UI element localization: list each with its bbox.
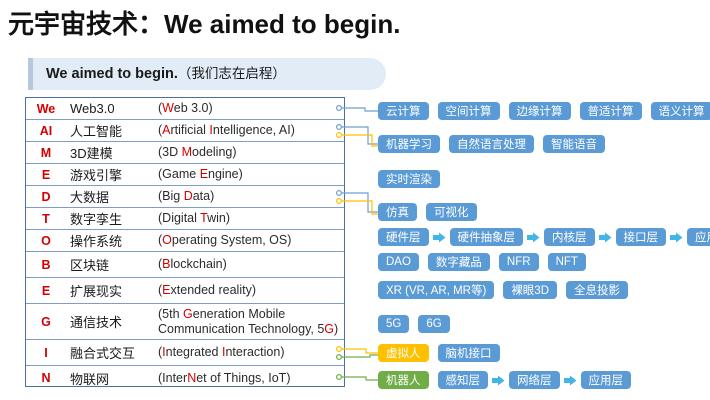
arrow-right-icon [527, 231, 540, 244]
row-english-term: (Operating System, OS) [155, 233, 344, 248]
tag-cloud-computing[interactable]: 普适计算 [580, 102, 642, 120]
tag-blockchain-terms[interactable]: 数字藏品 [428, 253, 490, 271]
tag-realtime-render[interactable]: 实时渲染 [378, 170, 440, 188]
tag-group-blockchain-terms: DAO数字藏品NFRNFT [378, 253, 595, 271]
row-english-term: (Artificial Intelligence, AI) [155, 123, 344, 138]
row-letter: We [26, 102, 66, 116]
tag-simulation[interactable]: 仿真 [378, 203, 417, 221]
tag-iot-layers[interactable]: 感知层 [438, 371, 489, 389]
tag-cloud-computing[interactable]: 空间计算 [438, 102, 500, 120]
table-row: E游戏引擎(Game Engine) [26, 164, 344, 186]
row-english-term: (Blockchain) [155, 257, 344, 272]
row-letter: O [26, 234, 66, 248]
tag-group-interaction: 虚拟人脑机接口 [378, 344, 509, 362]
tag-os-layers[interactable]: 应用层 [687, 228, 710, 246]
row-chinese-term: 物联网 [66, 369, 155, 388]
arrow-right-icon [670, 231, 683, 244]
row-letter: E [26, 168, 66, 182]
row-english-term: (Big Data) [155, 189, 344, 204]
tag-machine-learning[interactable]: 智能语音 [543, 135, 605, 153]
row-letter: D [26, 190, 66, 204]
arrow-right-icon [433, 231, 446, 244]
tag-iot-layers[interactable]: 机器人 [378, 371, 429, 389]
row-chinese-term: 人工智能 [66, 121, 155, 140]
tag-simulation[interactable]: 可视化 [426, 203, 477, 221]
table-row: T数字孪生(Digital Twin) [26, 208, 344, 230]
tag-group-machine-learning: 机器学习自然语言处理智能语音 [378, 135, 614, 153]
table-row: AI人工智能(Artificial Intelligence, AI) [26, 120, 344, 142]
row-letter: T [26, 212, 66, 226]
tag-os-layers[interactable]: 硬件抽象层 [450, 228, 524, 246]
tag-group-network-gen: 5G6G [378, 315, 459, 333]
row-chinese-term: 区块链 [66, 255, 155, 274]
tag-network-gen[interactable]: 6G [418, 315, 449, 333]
tag-group-cloud-computing: 云计算空间计算边缘计算普适计算语义计算 [378, 102, 710, 120]
tag-xr-terms[interactable]: XR (VR, AR, MR等) [378, 281, 494, 299]
tag-group-xr-terms: XR (VR, AR, MR等)裸眼3D全息投影 [378, 281, 637, 299]
tag-blockchain-terms[interactable]: NFR [499, 253, 539, 271]
tag-cloud-computing[interactable]: 语义计算 [651, 102, 710, 120]
arrow-right-icon [564, 374, 577, 387]
tag-group-realtime-render: 实时渲染 [378, 170, 449, 188]
row-letter: M [26, 146, 66, 160]
row-english-term: (Web 3.0) [155, 101, 344, 116]
tag-group-simulation: 仿真可视化 [378, 203, 486, 221]
row-chinese-term: 融合式交互 [66, 343, 155, 362]
table-row: D大数据(Big Data) [26, 186, 344, 208]
table-row: O操作系统(Operating System, OS) [26, 230, 344, 252]
row-english-term: (Game Engine) [155, 167, 344, 182]
row-letter: E [26, 284, 66, 298]
tag-os-layers[interactable]: 接口层 [616, 228, 667, 246]
slide-canvas: 元宇宙技术：We aimed to begin. We aimed to beg… [0, 0, 710, 400]
page-title: 元宇宙技术：We aimed to begin. [8, 4, 400, 41]
row-chinese-term: 游戏引擎 [66, 165, 155, 184]
tag-blockchain-terms[interactable]: DAO [378, 253, 419, 271]
row-letter: N [26, 371, 66, 385]
tag-iot-layers[interactable]: 网络层 [509, 371, 560, 389]
tag-group-os-layers: 硬件层硬件抽象层内核层接口层应用层 [378, 228, 710, 246]
row-english-term: (InterNet of Things, IoT) [155, 371, 344, 386]
table-row: WeWeb3.0(Web 3.0) [26, 98, 344, 120]
tag-os-layers[interactable]: 硬件层 [378, 228, 429, 246]
tag-blockchain-terms[interactable]: NFT [548, 253, 586, 271]
table-row: G通信技术(5th Generation Mobile Communicatio… [26, 304, 344, 340]
row-letter: I [26, 346, 66, 360]
table-row: N物联网(InterNet of Things, IoT) [26, 366, 344, 390]
tag-interaction[interactable]: 脑机接口 [438, 344, 500, 362]
row-chinese-term: Web3.0 [66, 101, 155, 116]
tag-interaction[interactable]: 虚拟人 [378, 344, 429, 362]
row-english-term: (5th Generation Mobile Communication Tec… [155, 307, 344, 337]
tag-os-layers[interactable]: 内核层 [544, 228, 595, 246]
row-chinese-term: 通信技术 [66, 312, 155, 331]
row-chinese-term: 数字孪生 [66, 209, 155, 228]
tag-machine-learning[interactable]: 机器学习 [378, 135, 440, 153]
table-row: E扩展现实(Extended reality) [26, 278, 344, 304]
tag-iot-layers[interactable]: 应用层 [581, 371, 632, 389]
tag-network-gen[interactable]: 5G [378, 315, 409, 333]
row-chinese-term: 大数据 [66, 187, 155, 206]
row-chinese-term: 操作系统 [66, 231, 155, 250]
subheading-banner: We aimed to begin.（我们志在启程） [28, 58, 386, 90]
arrow-right-icon [599, 231, 612, 244]
row-letter: G [26, 315, 66, 329]
row-english-term: (Extended reality) [155, 283, 344, 298]
tag-cloud-computing[interactable]: 边缘计算 [509, 102, 571, 120]
subheading-en: We aimed to begin. [46, 66, 178, 82]
table-row: M3D建模(3D Modeling) [26, 142, 344, 164]
row-english-term: (Digital Twin) [155, 211, 344, 226]
row-chinese-term: 扩展现实 [66, 281, 155, 300]
tag-group-iot-layers: 机器人感知层网络层应用层 [378, 371, 640, 389]
row-english-term: (Integrated Interaction) [155, 345, 344, 360]
subheading-text: We aimed to begin.（我们志在启程） [46, 58, 286, 90]
tag-xr-terms[interactable]: 裸眼3D [503, 281, 557, 299]
tag-machine-learning[interactable]: 自然语言处理 [449, 135, 534, 153]
subheading-cn: （我们志在启程） [178, 66, 286, 81]
row-english-term: (3D Modeling) [155, 145, 344, 160]
arrow-right-icon [492, 374, 505, 387]
row-letter: B [26, 258, 66, 272]
tag-cloud-computing[interactable]: 云计算 [378, 102, 429, 120]
row-chinese-term: 3D建模 [66, 143, 155, 162]
tag-xr-terms[interactable]: 全息投影 [566, 281, 628, 299]
table-row: B区块链(Blockchain) [26, 252, 344, 278]
terms-table: WeWeb3.0(Web 3.0)AI人工智能(Artificial Intel… [25, 97, 345, 387]
table-row: I融合式交互(Integrated Interaction) [26, 340, 344, 366]
row-letter: AI [26, 124, 66, 138]
